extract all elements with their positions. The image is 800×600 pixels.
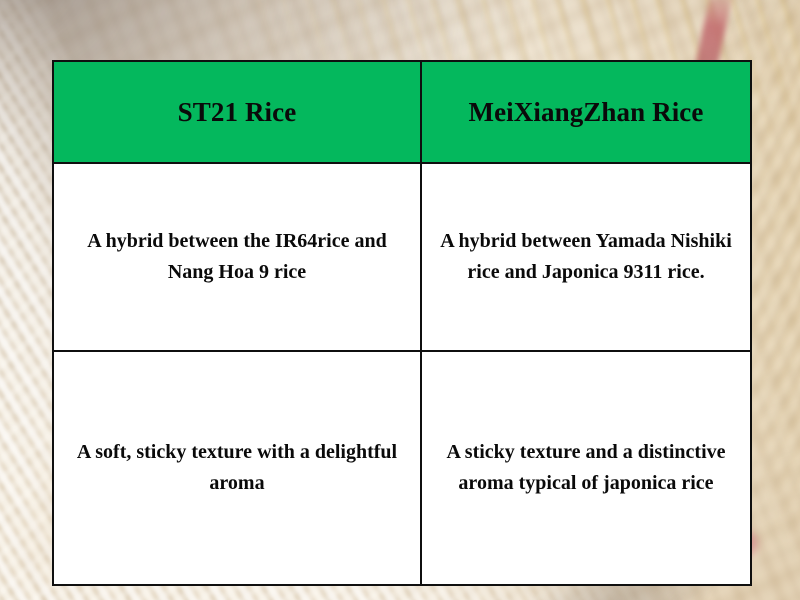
table-row: A soft, sticky texture with a delightful… bbox=[53, 351, 751, 585]
column-header-meixiangzhan: MeiXiangZhan Rice bbox=[421, 61, 751, 163]
table-header-row: ST21 Rice MeiXiangZhan Rice bbox=[53, 61, 751, 163]
cell-st21-texture: A soft, sticky texture with a delightful… bbox=[53, 351, 421, 585]
slide-canvas: ST21 Rice MeiXiangZhan Rice A hybrid bet… bbox=[0, 0, 800, 600]
cell-meixiangzhan-origin: A hybrid between Yamada Nishiki rice and… bbox=[421, 163, 751, 351]
table-row: A hybrid between the IR64rice and Nang H… bbox=[53, 163, 751, 351]
cell-st21-origin: A hybrid between the IR64rice and Nang H… bbox=[53, 163, 421, 351]
table-header: ST21 Rice MeiXiangZhan Rice bbox=[53, 61, 751, 163]
table-body: A hybrid between the IR64rice and Nang H… bbox=[53, 163, 751, 585]
rice-comparison-table: ST21 Rice MeiXiangZhan Rice A hybrid bet… bbox=[52, 60, 752, 586]
column-header-st21: ST21 Rice bbox=[53, 61, 421, 163]
comparison-table-container: ST21 Rice MeiXiangZhan Rice A hybrid bet… bbox=[52, 60, 750, 532]
cell-meixiangzhan-texture: A sticky texture and a distinctive aroma… bbox=[421, 351, 751, 585]
